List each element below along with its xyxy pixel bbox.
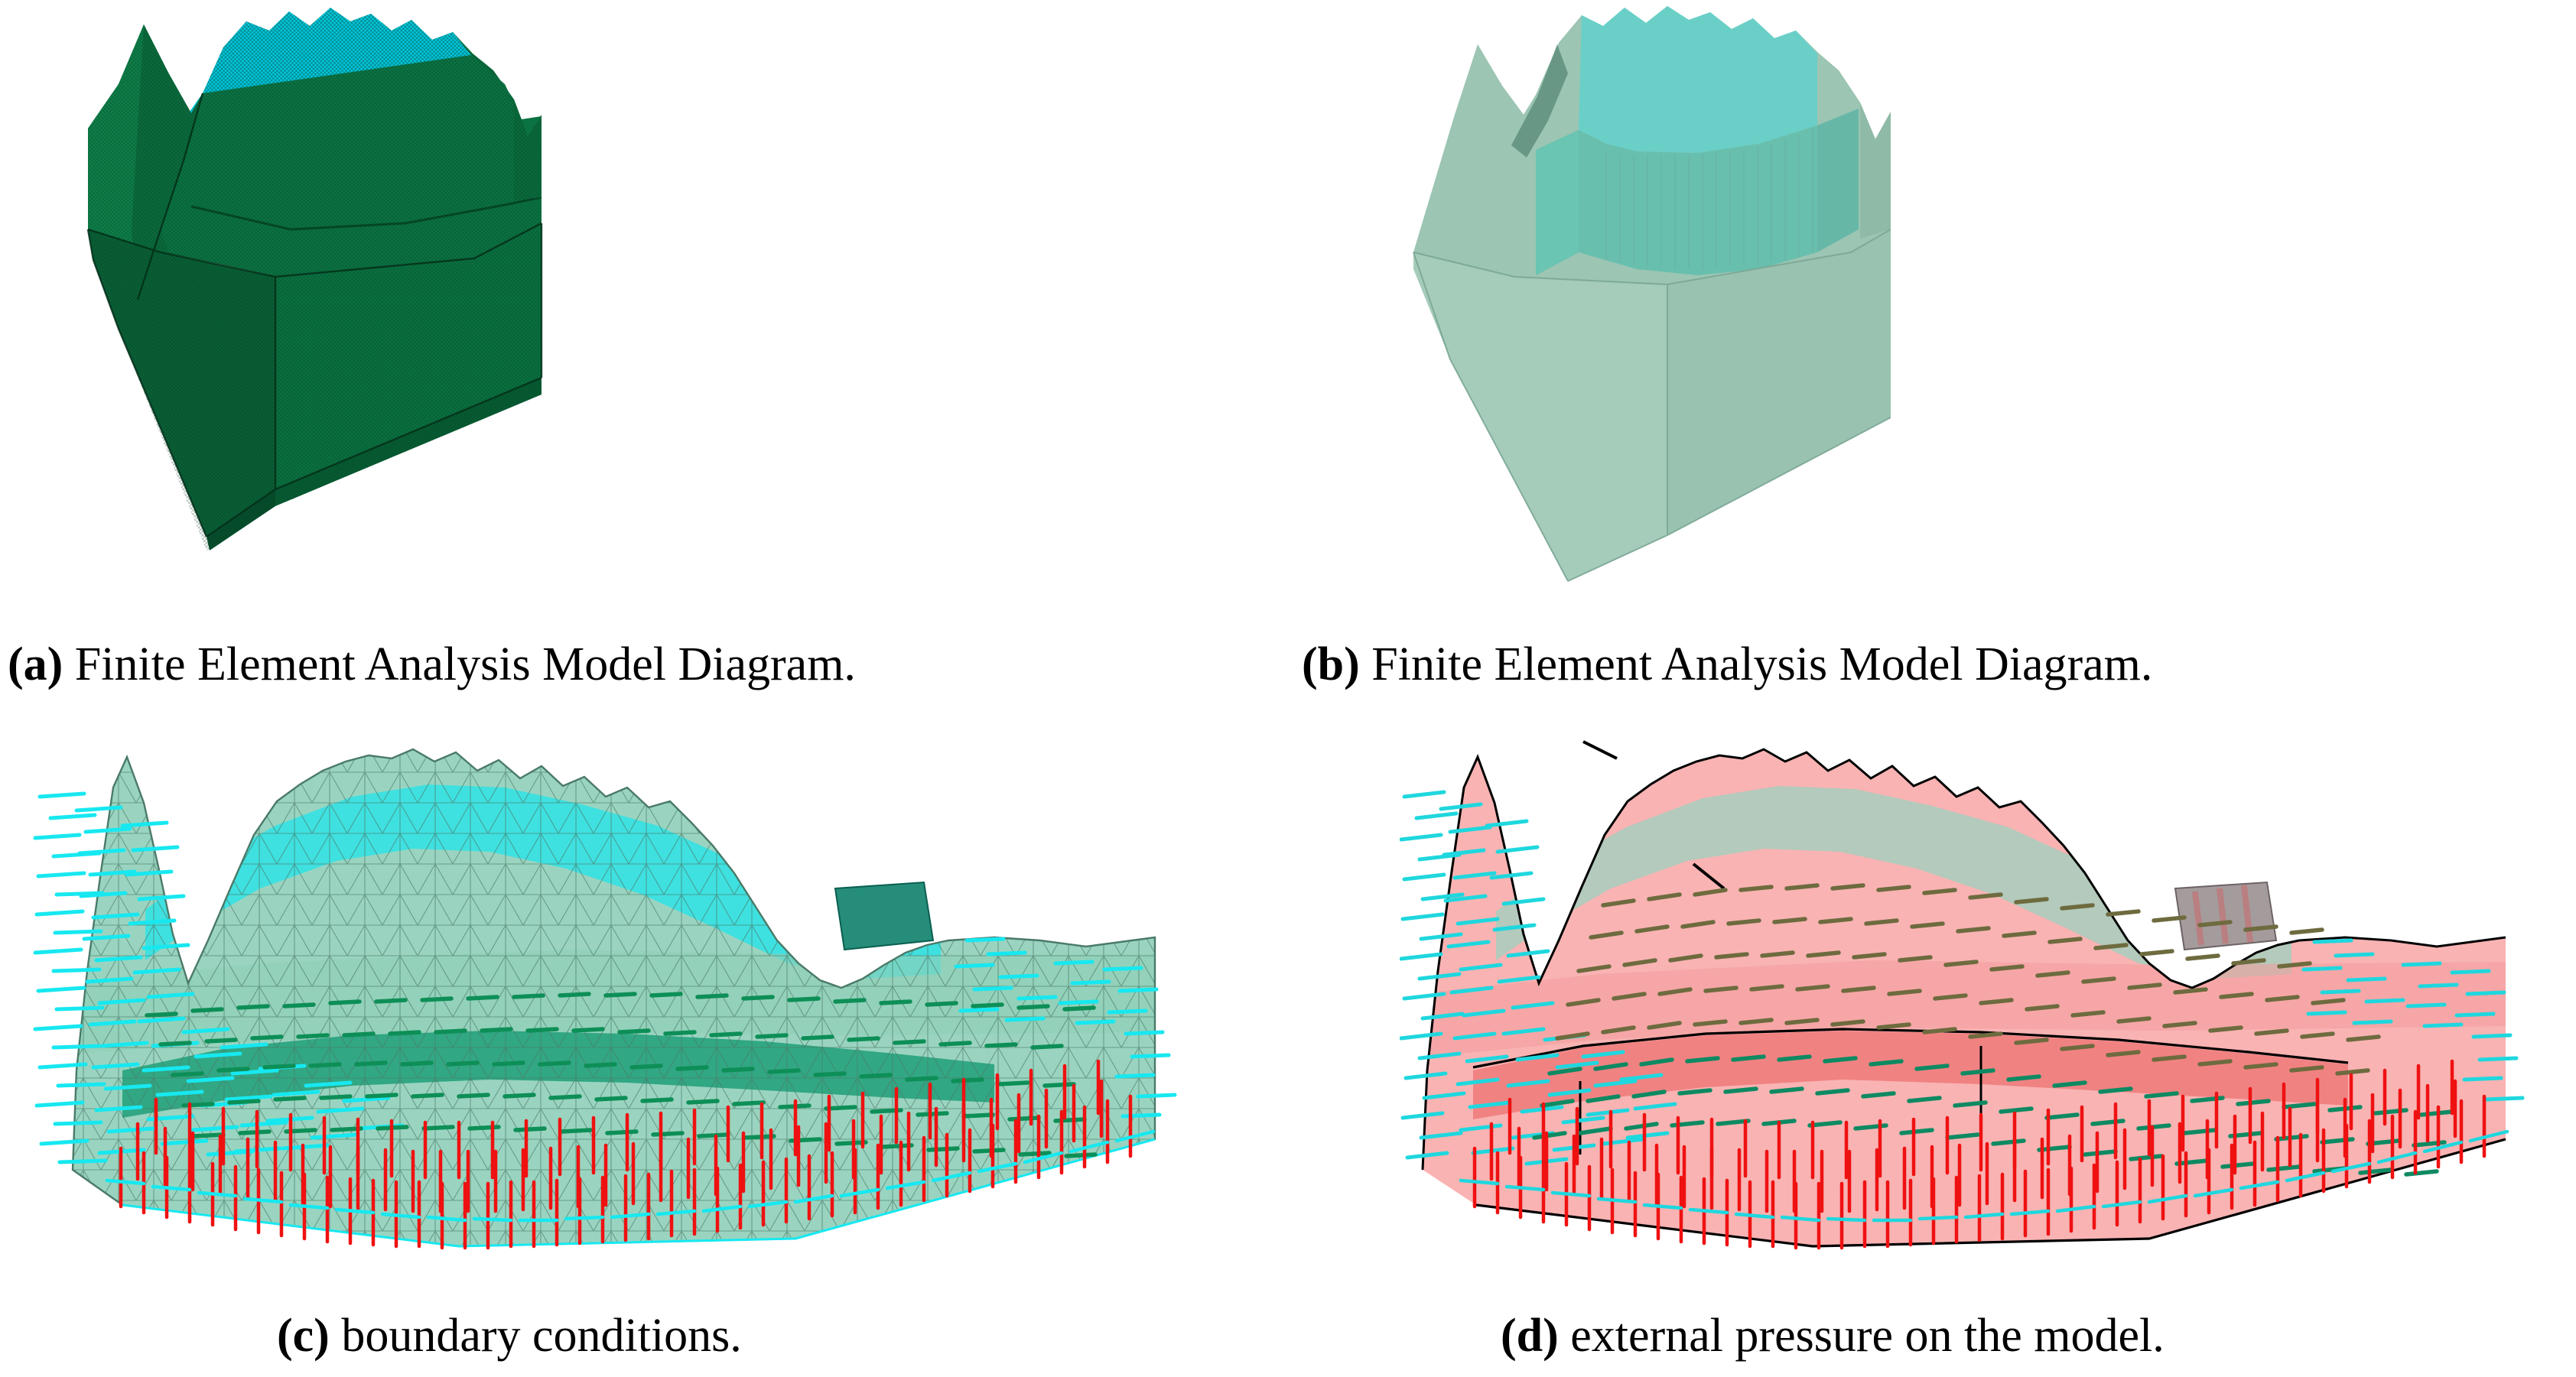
panel-d-external-pressure	[1400, 711, 2562, 1292]
panel-d-tick-top	[1583, 742, 1617, 758]
panel-b-viz	[1377, 0, 1943, 619]
caption-d-text: external pressure on the model.	[1559, 1310, 2165, 1362]
panel-c-mesh-overlay	[31, 711, 1300, 1292]
caption-c-text: boundary conditions.	[330, 1310, 742, 1362]
panel-b-shell-front	[1413, 6, 1891, 284]
caption-panel-d: (d) external pressure on the model.	[1501, 1312, 2165, 1359]
panel-a-finite-element-model	[46, 0, 597, 619]
caption-d-tag: (d)	[1501, 1310, 1559, 1362]
panel-c-viz	[31, 711, 1300, 1292]
caption-panel-c: (c) boundary conditions.	[277, 1312, 742, 1359]
caption-a-text: Finite Element Analysis Model Diagram.	[63, 638, 856, 690]
panel-a-mesh-overlay	[88, 8, 542, 550]
panel-b-finite-element-model	[1377, 0, 1943, 619]
panel-c-inclusion	[835, 882, 933, 950]
caption-panel-b: (b) Finite Element Analysis Model Diagra…	[1302, 641, 2152, 688]
panel-c-boundary-conditions	[31, 711, 1300, 1292]
panel-d-inclusion	[2175, 882, 2276, 950]
panel-b-front-left-face	[1413, 252, 1667, 581]
caption-c-tag: (c)	[277, 1310, 330, 1362]
caption-a-tag: (a)	[8, 638, 63, 690]
caption-panel-a: (a) Finite Element Analysis Model Diagra…	[8, 641, 856, 688]
figure-root: (a) Finite Element Analysis Model Diagra…	[0, 0, 2576, 1377]
panel-a-viz	[46, 0, 597, 619]
caption-b-text: Finite Element Analysis Model Diagram.	[1360, 638, 2153, 690]
panel-b-right-step	[1860, 102, 1891, 239]
panel-d-viz	[1400, 711, 2562, 1292]
caption-b-tag: (b)	[1302, 638, 1360, 690]
